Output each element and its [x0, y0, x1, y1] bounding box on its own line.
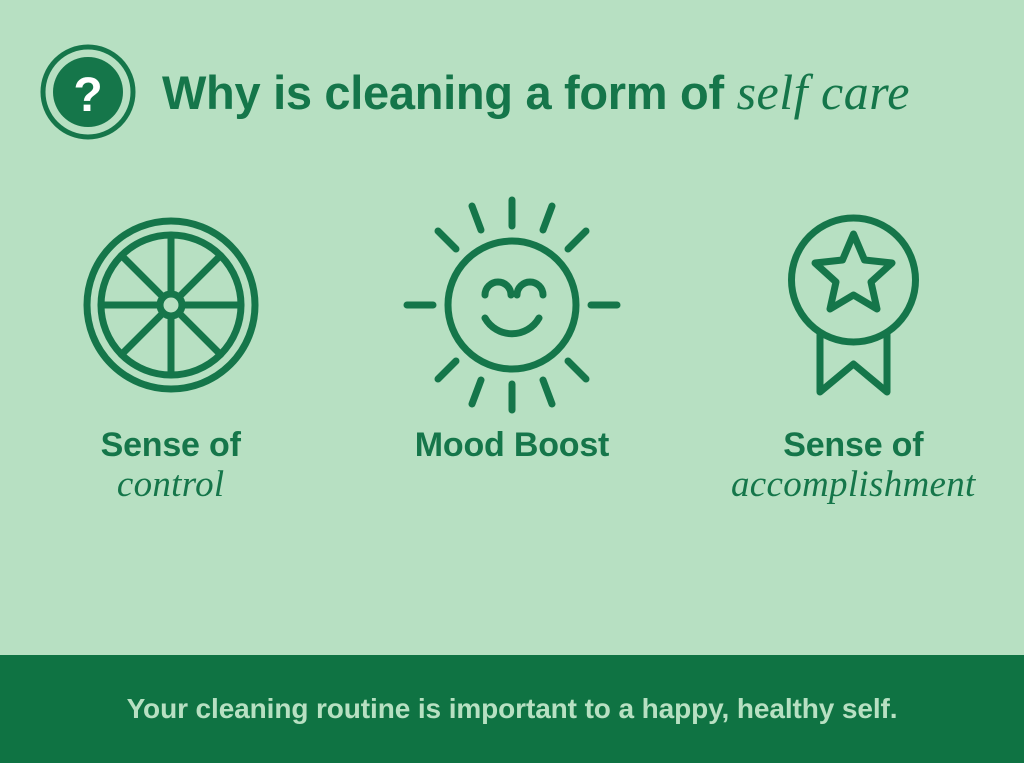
- footer-banner: Your cleaning routine is important to a …: [0, 655, 1024, 763]
- page-title: Why is cleaning a form of self care: [162, 67, 910, 117]
- svg-text:?: ?: [73, 69, 102, 122]
- benefit-card-accomplishment: Sense of accomplishment: [683, 190, 1024, 505]
- wheel-icon: [81, 190, 261, 420]
- question-mark-circle-icon: ?: [40, 44, 136, 140]
- smiling-sun-icon: [397, 190, 627, 420]
- benefit-label-italic: control: [101, 466, 241, 505]
- page-title-plain: Why is cleaning a form of: [162, 66, 737, 119]
- award-medal-star-icon: [766, 190, 941, 420]
- benefit-label-main: Mood Boost: [415, 428, 609, 464]
- benefit-card-mood-boost: Mood Boost: [341, 190, 682, 505]
- benefit-label-accomplishment: Sense of accomplishment: [731, 428, 976, 505]
- benefit-label-italic: accomplishment: [731, 466, 976, 505]
- footer-banner-text: Your cleaning routine is important to a …: [127, 693, 898, 725]
- benefit-label-main: Sense of: [731, 428, 976, 464]
- benefit-card-control: Sense of control: [0, 190, 341, 505]
- benefits-row: Sense of control: [0, 190, 1024, 505]
- infographic-root: ? Why is cleaning a form of self care: [0, 0, 1024, 763]
- benefit-label-control: Sense of control: [101, 428, 241, 505]
- header: ? Why is cleaning a form of self care: [40, 42, 910, 142]
- benefit-label-mood-boost: Mood Boost: [415, 428, 609, 464]
- page-title-italic: self care: [737, 64, 910, 120]
- benefit-label-main: Sense of: [101, 428, 241, 464]
